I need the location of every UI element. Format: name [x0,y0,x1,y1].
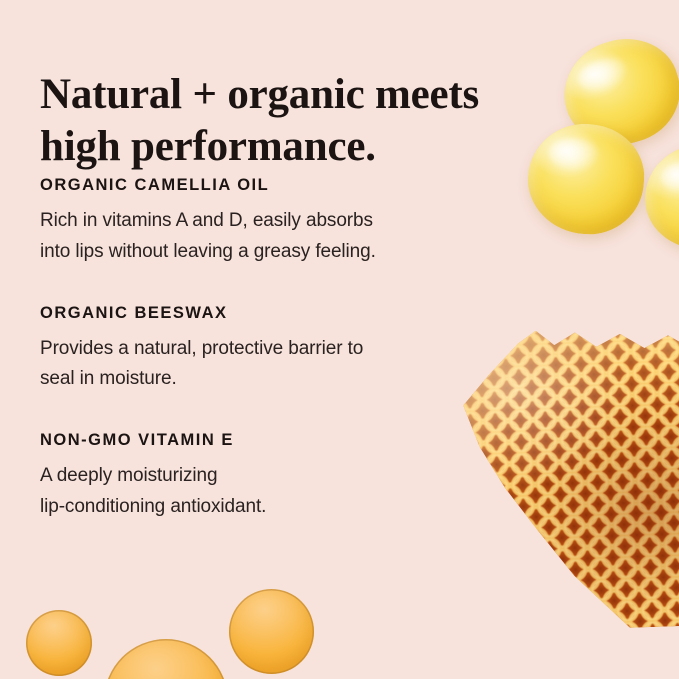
benefit-description: Rich in vitamins A and D, easily absorbs… [40,206,510,268]
benefit-item-beeswax: ORGANIC BEESWAX Provides a natural, prot… [40,304,510,396]
text-content-layer: Natural + organic meets high performance… [0,0,679,679]
benefit-title: ORGANIC BEESWAX [40,304,510,323]
benefit-item-camellia-oil: ORGANIC CAMELLIA OIL Rich in vitamins A … [40,176,510,268]
benefit-title: ORGANIC CAMELLIA OIL [40,176,510,195]
benefit-item-vitamin-e: NON-GMO VITAMIN E A deeply moisturizing … [40,431,510,523]
page-title: Natural + organic meets high performance… [40,69,510,174]
benefit-description: Provides a natural, protective barrier t… [40,334,510,396]
product-benefits-infographic: Natural + organic meets high performance… [0,0,679,679]
benefit-list: ORGANIC CAMELLIA OIL Rich in vitamins A … [40,176,510,523]
benefit-description: A deeply moisturizing lip-conditioning a… [40,461,510,523]
benefit-title: NON-GMO VITAMIN E [40,431,510,450]
